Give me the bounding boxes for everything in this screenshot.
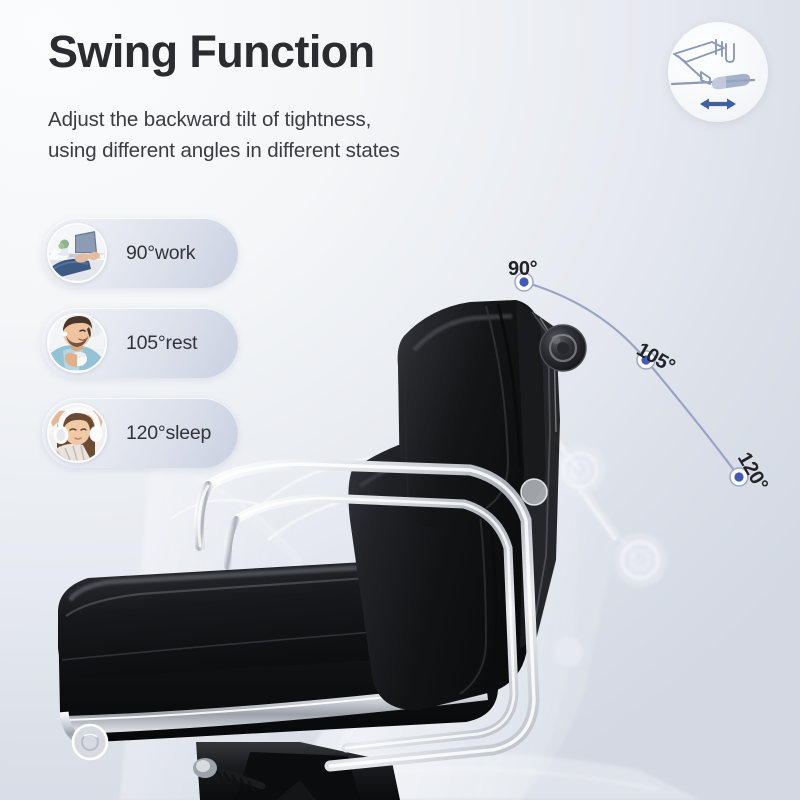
person-working-laptop-photo <box>47 223 107 283</box>
page-subtitle: Adjust the backward tilt of tightness, u… <box>48 104 400 166</box>
angle-label-90: 90° <box>508 258 537 281</box>
woman-headphones-relaxing-photo <box>47 403 107 463</box>
tilt-tension-adjust-badge <box>668 22 768 122</box>
double-arrow-icon <box>700 99 736 110</box>
swing-function-product-slide: 90° 105° 120° Swing Function Adjust the … <box>0 0 800 800</box>
feature-pill-work[interactable]: 90°work <box>42 218 238 288</box>
page-title: Swing Function <box>48 28 375 76</box>
tilt-pivot-knob <box>540 325 586 371</box>
subtitle-line-2: using different angles in different stat… <box>48 135 400 166</box>
feature-pill-label-rest: 105°rest <box>126 308 197 378</box>
man-drinking-coffee-photo <box>47 313 107 373</box>
feature-pill-label-work: 90°work <box>126 218 195 288</box>
feature-pill-label-sleep: 120°sleep <box>126 398 211 468</box>
feature-pill-sleep[interactable]: 120°sleep <box>42 398 238 468</box>
subtitle-line-1: Adjust the backward tilt of tightness, <box>48 104 400 135</box>
feature-pill-rest[interactable]: 105°rest <box>42 308 238 378</box>
tilt-tension-adjust-icon <box>668 22 768 122</box>
